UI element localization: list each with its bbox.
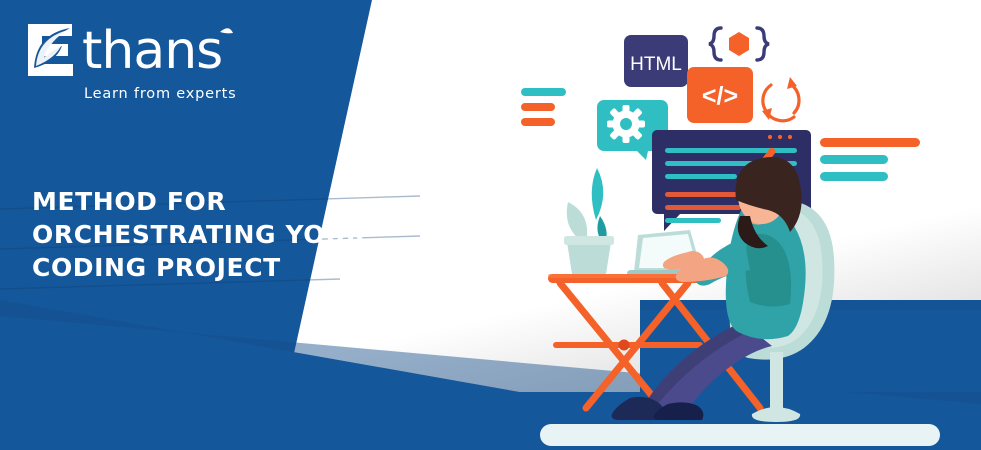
code-line-1 (665, 148, 797, 153)
plant-pot-rim (564, 236, 614, 245)
hexagon-icon (729, 32, 749, 56)
refresh-circular-arrows-icon (762, 77, 799, 121)
code-tag-card: </> (687, 67, 753, 123)
left-bar-group (521, 88, 566, 126)
promo-banner: HTML </> (0, 0, 981, 450)
plant-leaf-tall (592, 168, 604, 220)
gear-icon (607, 105, 645, 143)
html-card-label: HTML (630, 54, 682, 75)
left-bar-2 (521, 103, 555, 111)
right-bar-group (820, 138, 920, 181)
headline-line-2: ORCHESTRATING YOUR (32, 218, 412, 251)
leaf-e-icon (28, 24, 73, 76)
html-card: HTML (624, 35, 688, 87)
logo-wordmark: thans (82, 21, 222, 80)
left-bar-3 (521, 118, 555, 126)
desk-joint (619, 340, 630, 351)
code-line-7 (665, 218, 721, 223)
left-bar-1 (521, 88, 566, 96)
plant-pot (567, 242, 611, 274)
potted-plant (564, 168, 614, 274)
code-tag-card-label: </> (702, 82, 738, 110)
floor-platform (540, 424, 940, 446)
code-line-3 (665, 174, 737, 179)
ethans-logo-mark: thans (24, 18, 254, 80)
braces-badge (709, 28, 769, 60)
right-bar-2 (820, 155, 888, 164)
headline-block: METHOD FOR ORCHESTRATING YOUR CODING PRO… (32, 185, 412, 284)
right-bar-3 (820, 172, 888, 181)
headline-line-3: CODING PROJECT (32, 251, 412, 284)
ethans-logo[interactable]: thans Learn from experts (24, 18, 254, 98)
code-line-6 (665, 205, 741, 210)
headline-line-1: METHOD FOR (32, 185, 412, 218)
right-bar-1 (820, 138, 920, 147)
brand-tagline: Learn from experts (84, 86, 236, 102)
chair-post (770, 352, 783, 414)
